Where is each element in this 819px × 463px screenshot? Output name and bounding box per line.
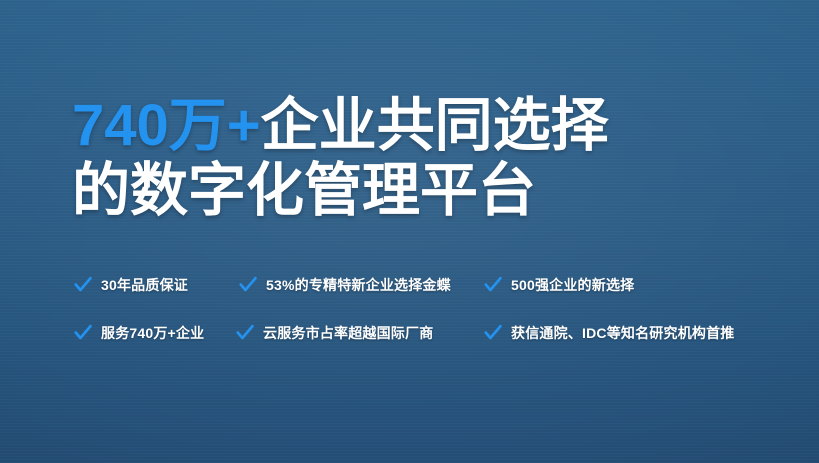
headline: 740万+企业共同选择 的数字化管理平台 xyxy=(72,96,772,220)
bullet-label: 获信通院、IDC等知名研究机构首推 xyxy=(511,323,735,343)
bullet-label: 53%的专精特新企业选择金蝶 xyxy=(266,275,451,295)
headline-line1-rest: 企业共同选择 xyxy=(261,93,609,158)
headline-line2: 的数字化管理平台 xyxy=(72,161,772,220)
bullet-item: 53%的专精特新企业选择金蝶 xyxy=(239,275,484,295)
bullet-row: 服务740万+企业 云服务市占率超越国际厂商 xyxy=(74,314,794,352)
bullet-label: 500强企业的新选择 xyxy=(511,275,634,295)
bullet-label: 服务740万+企业 xyxy=(101,323,204,343)
feature-bullets: 30年品质保证 53%的专精特新企业选择金蝶 xyxy=(74,266,794,352)
bullet-item: 云服务市占率超越国际厂商 xyxy=(236,323,484,343)
check-icon xyxy=(74,324,92,342)
bullet-row: 30年品质保证 53%的专精特新企业选择金蝶 xyxy=(74,266,794,304)
bullet-item: 500强企业的新选择 xyxy=(484,275,714,295)
check-icon xyxy=(484,276,502,294)
headline-accent: 740万+ xyxy=(72,93,261,158)
promo-banner: 740万+企业共同选择 的数字化管理平台 30年品质保证 xyxy=(0,0,819,463)
bullet-item: 服务740万+企业 xyxy=(74,323,236,343)
check-icon xyxy=(236,324,254,342)
bullet-item: 30年品质保证 xyxy=(74,275,239,295)
bullet-label: 30年品质保证 xyxy=(101,275,188,295)
bullet-label: 云服务市占率超越国际厂商 xyxy=(263,323,433,343)
banner-content: 740万+企业共同选择 的数字化管理平台 30年品质保证 xyxy=(0,0,819,463)
check-icon xyxy=(74,276,92,294)
bullet-item: 获信通院、IDC等知名研究机构首推 xyxy=(484,323,744,343)
check-icon xyxy=(484,324,502,342)
check-icon xyxy=(239,276,257,294)
